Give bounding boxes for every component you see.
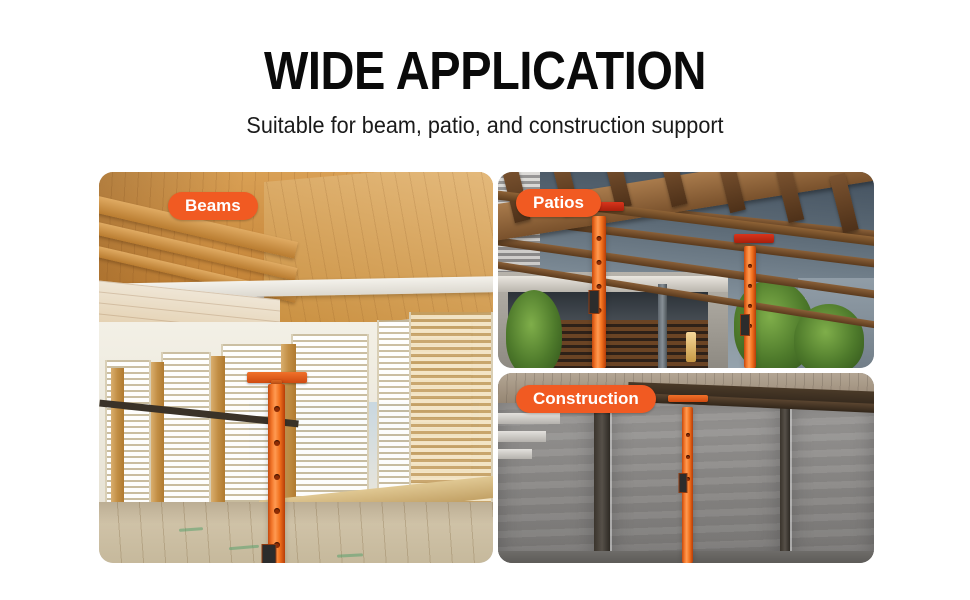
post-hole (686, 433, 690, 437)
post-label (262, 544, 277, 563)
post-hole (686, 455, 690, 459)
beams-photo (99, 172, 493, 563)
post-hole (274, 440, 280, 446)
stair-step (498, 449, 532, 459)
wood-column (151, 362, 164, 518)
support-post (744, 246, 756, 368)
wood-slat-fence (538, 320, 708, 368)
badge-patios: Patios (516, 189, 601, 217)
concrete-wall (790, 403, 874, 563)
steel-column (658, 284, 667, 368)
concrete-wall (498, 403, 594, 563)
post-hole (597, 236, 602, 241)
post-hole (748, 304, 752, 308)
post-hole (274, 474, 280, 480)
steel-column (780, 403, 790, 563)
wood-ceiling-right (264, 172, 493, 332)
page-title: WIDE APPLICATION (63, 44, 907, 98)
post-label (679, 473, 688, 493)
wall-edge (790, 403, 792, 563)
wood-column (111, 368, 124, 518)
panel-construction[interactable]: Construction (498, 373, 874, 563)
post-hole (597, 284, 602, 289)
concrete-wall (610, 401, 780, 563)
tree (506, 290, 562, 368)
panel-patios[interactable]: Patios (498, 172, 874, 368)
floor-shadow (99, 502, 493, 524)
header: WIDE APPLICATION Suitable for beam, pati… (0, 0, 970, 139)
panel-beams[interactable]: Beams (99, 172, 493, 563)
stair-step (498, 413, 560, 424)
badge-beams: Beams (168, 192, 258, 220)
page-subtitle: Suitable for beam, patio, and constructi… (29, 112, 941, 139)
patio-lamp (686, 332, 696, 362)
wide-application-banner: WIDE APPLICATION Suitable for beam, pati… (0, 0, 970, 600)
post-top-plate (734, 234, 774, 243)
post-hole (748, 264, 752, 268)
stair-step (498, 431, 546, 442)
post-hole (274, 406, 280, 412)
post-hole (274, 508, 280, 514)
post-label (589, 290, 600, 314)
support-post (268, 384, 285, 563)
post-hole (748, 284, 752, 288)
window-blind (161, 352, 211, 514)
steel-column (594, 401, 610, 563)
post-hole (597, 260, 602, 265)
post-top-plate (668, 395, 708, 402)
wood-column (211, 356, 225, 520)
post-label (740, 314, 750, 336)
wall-edge (610, 401, 612, 563)
badge-construction: Construction (516, 385, 656, 413)
